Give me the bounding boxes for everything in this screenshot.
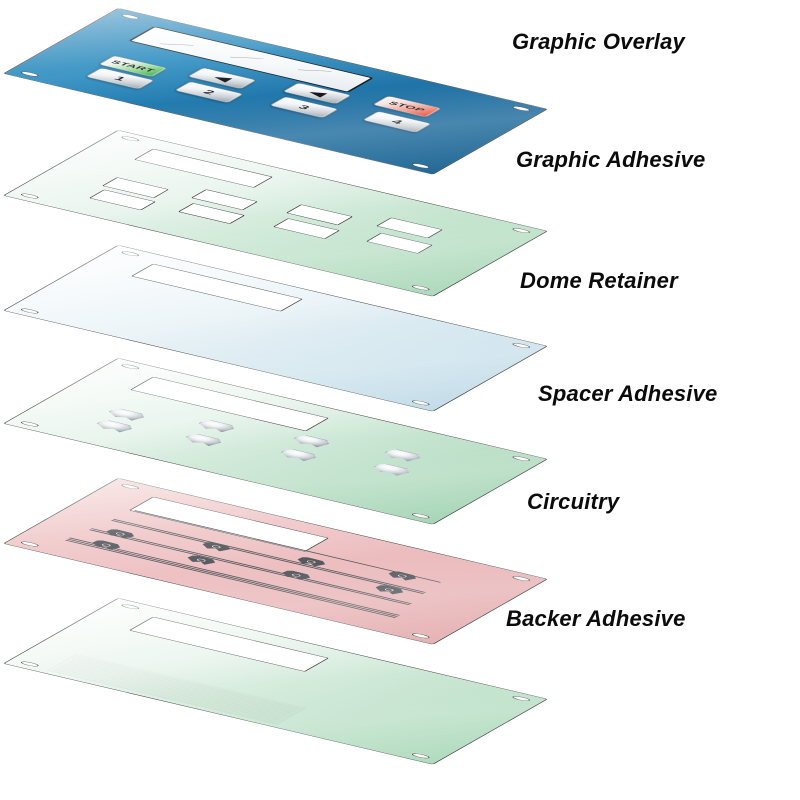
label-circuitry: Circuitry [527,489,619,515]
label-backer-adhesive: Backer Adhesive [506,606,686,632]
arrow-left-icon: ◀ [305,89,329,98]
label-spacer-adhesive: Spacer Adhesive [538,381,718,407]
arrow-left-icon: ◀ [210,74,234,83]
label-graphic-adhesive: Graphic Adhesive [516,147,705,173]
label-graphic-overlay: Graphic Overlay [512,29,685,55]
exploded-diagram: START 1 2 3 4 ◀ ◀ STOP [0,0,800,800]
label-dome-retainer: Dome Retainer [520,268,678,294]
